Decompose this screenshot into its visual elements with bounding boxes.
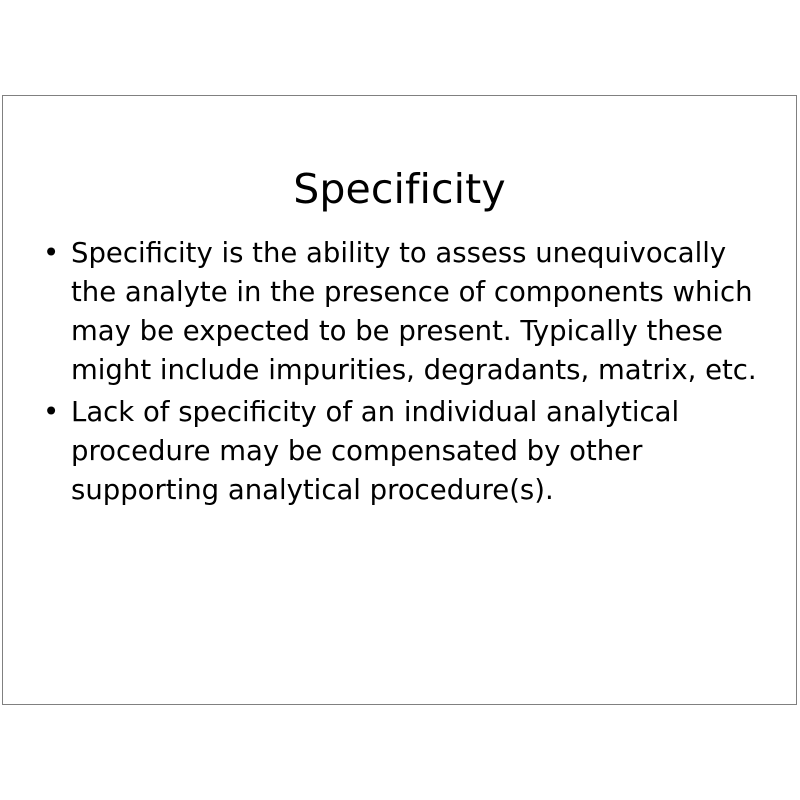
list-item: • Specificity is the ability to assess u… bbox=[39, 234, 767, 390]
slide-body: • Specificity is the ability to assess u… bbox=[39, 234, 767, 510]
slide-canvas: Specificity • Specificity is the ability… bbox=[0, 0, 800, 800]
page-title: Specificity bbox=[3, 167, 796, 212]
list-item: • Lack of specificity of an individual a… bbox=[39, 393, 767, 510]
bullet-point-icon: • bbox=[43, 393, 59, 432]
list-item-text: Lack of specificity of an individual ana… bbox=[71, 393, 767, 510]
slide-frame: Specificity • Specificity is the ability… bbox=[2, 95, 797, 705]
list-item-text: Specificity is the ability to assess une… bbox=[71, 234, 767, 390]
bullet-point-icon: • bbox=[43, 234, 59, 273]
